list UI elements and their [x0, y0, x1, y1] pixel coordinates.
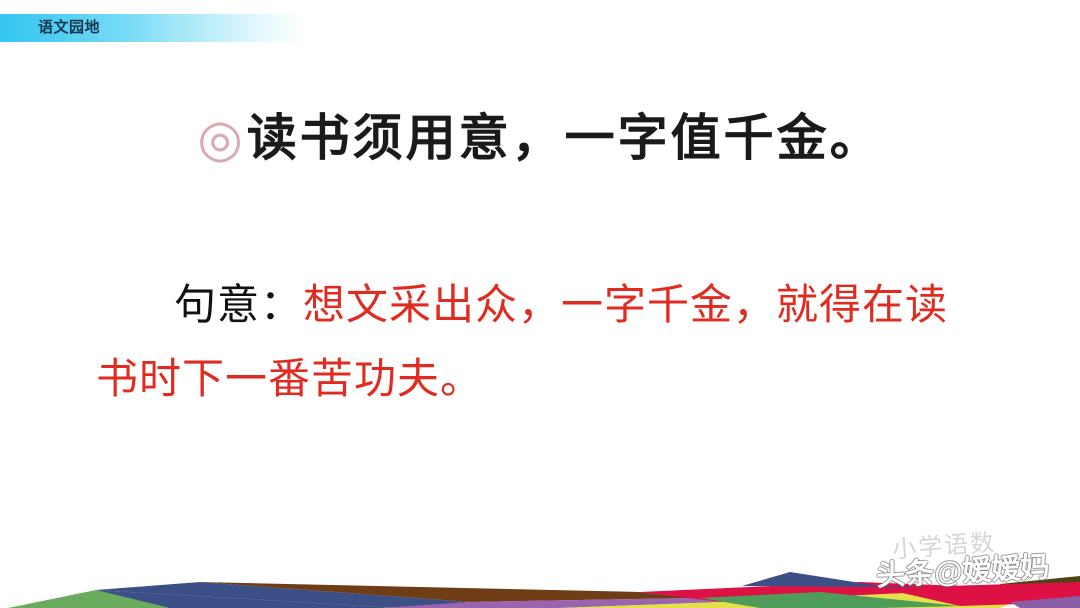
proverb-row: ◎ 读书须用意，一字值千金。: [0, 108, 1080, 168]
meaning-label: 句意：: [174, 281, 303, 328]
bottom-decorative-ribbon: [0, 536, 1080, 608]
proverb-text: 读书须用意，一字值千金。: [247, 108, 883, 168]
meaning-text-line2: 书时下一番苦功夫。: [96, 355, 483, 402]
header-title: 语文园地: [38, 17, 100, 39]
meaning-block: 句意：想文采出众，一字千金，就得在读 书时下一番苦功夫。: [96, 268, 976, 416]
double-circle-bullet-icon: ◎: [197, 114, 242, 166]
meaning-text-line1: 想文采出众，一字千金，就得在读: [303, 281, 948, 328]
meaning-line-second: 书时下一番苦功夫。: [96, 342, 976, 416]
meaning-line-first: 句意：想文采出众，一字千金，就得在读: [96, 268, 976, 342]
slide-canvas: 语文园地 ◎ 读书须用意，一字值千金。 句意：想文采出众，一字千金，就得在读 书…: [0, 0, 1080, 608]
